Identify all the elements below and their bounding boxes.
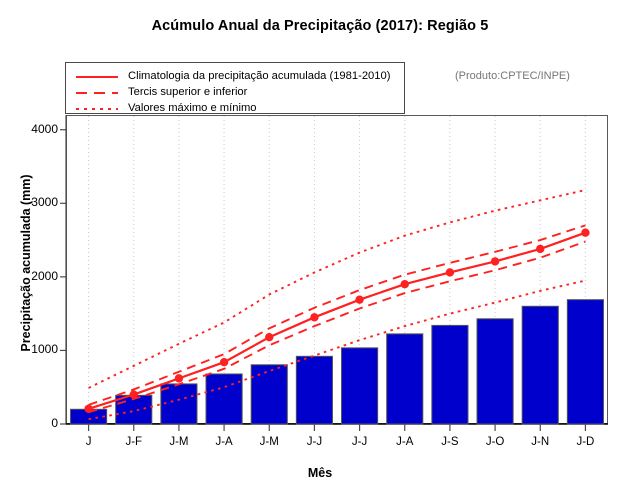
- series-marker: [491, 257, 499, 265]
- series-marker: [401, 280, 409, 288]
- series-marker: [310, 313, 318, 321]
- series-marker: [536, 245, 544, 253]
- legend-swatch-solid-icon: [74, 70, 120, 82]
- legend-swatch-dotted-icon: [74, 102, 120, 114]
- series-marker: [175, 374, 183, 382]
- bar: [206, 374, 242, 424]
- bar: [387, 334, 423, 424]
- legend-item-extremes: Valores máximo e mínimo: [74, 100, 257, 115]
- chart-legend: Climatologia da precipitação acumulada (…: [65, 62, 405, 114]
- series-marker: [355, 295, 363, 303]
- legend-item-terciles: Tercis superior e inferior: [74, 84, 247, 99]
- series-marker: [446, 268, 454, 276]
- bar: [567, 300, 603, 424]
- series-marker: [265, 333, 273, 341]
- legend-label-climatology: Climatologia da precipitação acumulada (…: [128, 70, 390, 82]
- legend-label-terciles: Tercis superior e inferior: [128, 86, 247, 98]
- source-annotation: (Produto:CPTEC/INPE): [455, 70, 570, 82]
- bar: [161, 384, 197, 424]
- legend-label-extremes: Valores máximo e mínimo: [128, 102, 257, 114]
- bar: [477, 319, 513, 424]
- bar: [251, 365, 287, 424]
- series-marker: [581, 229, 589, 237]
- bar: [296, 356, 332, 424]
- bar: [342, 348, 378, 424]
- bar: [522, 306, 558, 424]
- legend-swatch-dashed-icon: [74, 86, 120, 98]
- bar: [432, 325, 468, 424]
- precipitation-chart: Acúmulo Anual da Precipitação (2017): Re…: [0, 0, 640, 500]
- series-marker: [220, 358, 228, 366]
- legend-item-climatology: Climatologia da precipitação acumulada (…: [74, 68, 390, 83]
